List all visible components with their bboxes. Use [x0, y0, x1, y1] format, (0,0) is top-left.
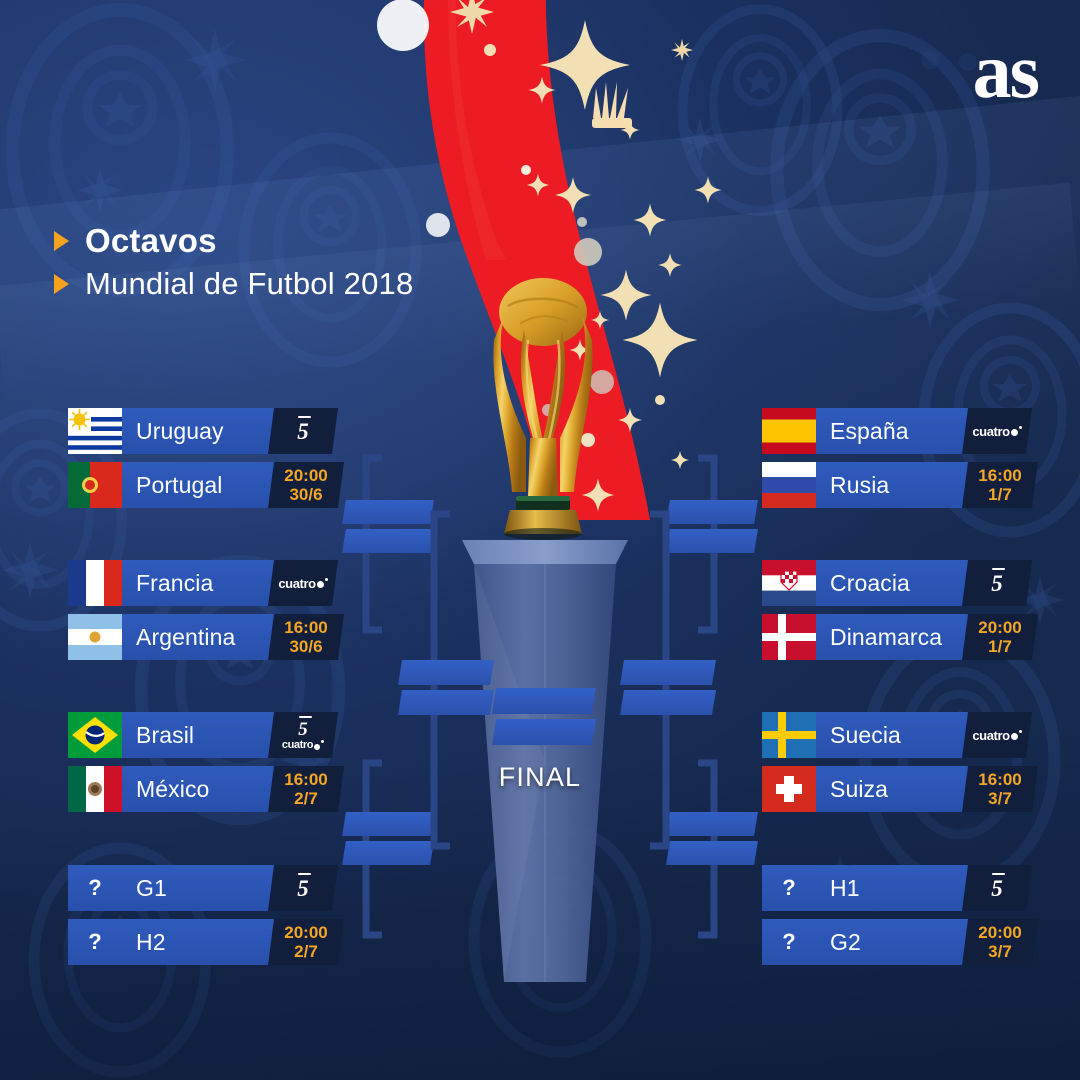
telecinco-cuatro-icon: 5 cuatro: [282, 720, 324, 751]
as-logo[interactable]: as: [973, 34, 1038, 108]
match-date: 1/7: [988, 485, 1012, 504]
match-time-box: 20:00 1/7: [962, 614, 1038, 660]
table-row[interactable]: ? H2 20:00 2/7: [68, 919, 330, 965]
team-name: H1: [816, 875, 860, 902]
channel-box: 5 cuatro: [268, 712, 338, 758]
match-time: 16:00: [978, 466, 1021, 485]
table-row[interactable]: Brasil 5 cuatro: [68, 712, 330, 758]
telecinco-icon: 5: [991, 877, 1003, 900]
table-row[interactable]: Francia cuatro: [68, 560, 330, 606]
team-name: Francia: [122, 570, 213, 597]
sweden-flag: [762, 712, 816, 758]
team-name: Uruguay: [122, 418, 224, 445]
match-time-box: 20:00 3/7: [962, 919, 1038, 965]
team-name: Suecia: [816, 722, 901, 749]
match-card[interactable]: Francia cuatro Arge: [68, 560, 330, 660]
match-date: 30/6: [289, 637, 322, 656]
unknown-team-icon: ?: [762, 919, 816, 965]
uruguay-flag: [68, 408, 122, 454]
match-date: 1/7: [988, 637, 1012, 656]
final-slot-b: [492, 719, 596, 745]
switzerland-flag: [762, 766, 816, 812]
unknown-team-icon: ?: [68, 865, 122, 911]
france-flag: [68, 560, 122, 606]
telecinco-icon: 5: [991, 572, 1003, 595]
page-title: Octavos Mundial de Futbol 2018: [54, 222, 413, 302]
telecinco-icon: 5: [297, 877, 309, 900]
team-name: H2: [122, 929, 166, 956]
match-time-box: 16:00 30/6: [268, 614, 344, 660]
table-row[interactable]: Uruguay 5: [68, 408, 330, 454]
channel-box: 5: [268, 408, 338, 454]
team-name: G1: [122, 875, 167, 902]
brazil-flag: [68, 712, 122, 758]
match-date: 3/7: [988, 789, 1012, 808]
match-date: 30/6: [289, 485, 322, 504]
match-time: 20:00: [978, 923, 1021, 942]
sf-slot-right-a: [620, 660, 716, 685]
match-date: 2/7: [294, 942, 318, 961]
match-time: 16:00: [284, 618, 327, 637]
team-name: Portugal: [122, 472, 222, 499]
match-card[interactable]: Brasil 5 cuatro: [68, 712, 330, 812]
title-line-2: Mundial de Futbol 2018: [85, 266, 413, 302]
table-row[interactable]: Suecia cuatro: [762, 712, 1024, 758]
match-time-box: 20:00 30/6: [268, 462, 344, 508]
team-name: Rusia: [816, 472, 889, 499]
team-name: G2: [816, 929, 861, 956]
denmark-flag: [762, 614, 816, 660]
match-card[interactable]: Uruguay 5 Portugal 20:00: [68, 408, 330, 508]
match-time: 16:00: [284, 770, 327, 789]
title-row-secondary: Mundial de Futbol 2018: [54, 266, 413, 302]
team-name: España: [816, 418, 909, 445]
table-row[interactable]: Rusia 16:00 1/7: [762, 462, 1024, 508]
table-row[interactable]: ? H1 5: [762, 865, 1024, 911]
sf-slot-left-a: [398, 660, 494, 685]
match-time: 20:00: [284, 466, 327, 485]
match-card[interactable]: Suecia cuatro Suiza 16:00: [762, 712, 1024, 812]
cuatro-icon: cuatro: [972, 425, 1021, 438]
match-card[interactable]: España cuatro Rusia 16:00: [762, 408, 1024, 508]
triangle-bullet-icon: [54, 231, 69, 251]
channel-box: cuatro: [962, 408, 1032, 454]
match-time-box: 16:00 3/7: [962, 766, 1038, 812]
team-name: Argentina: [122, 624, 235, 651]
table-row[interactable]: Dinamarca 20:00 1/7: [762, 614, 1024, 660]
cuatro-icon: cuatro: [278, 577, 327, 590]
match-card[interactable]: ? H1 5 ? G2 20:00 3/7: [762, 865, 1024, 965]
match-date: 2/7: [294, 789, 318, 808]
match-time: 20:00: [284, 923, 327, 942]
team-name: Brasil: [122, 722, 194, 749]
table-row[interactable]: Suiza 16:00 3/7: [762, 766, 1024, 812]
telecinco-icon: 5: [297, 420, 309, 443]
portugal-flag: [68, 462, 122, 508]
russia-flag: [762, 462, 816, 508]
match-time: 16:00: [978, 770, 1021, 789]
channel-box: 5: [962, 865, 1032, 911]
unknown-team-icon: ?: [68, 919, 122, 965]
title-line-1: Octavos: [85, 222, 217, 260]
triangle-bullet-icon: [54, 274, 69, 294]
final-slot-a: [492, 688, 596, 714]
table-row[interactable]: ? G1 5: [68, 865, 330, 911]
cuatro-icon: cuatro: [282, 740, 324, 751]
infographic-root: FINAL as Octavos Mundial de Futbol 2018: [0, 0, 1080, 1080]
match-date: 3/7: [988, 942, 1012, 961]
sf-slot-left-b: [398, 690, 494, 715]
channel-box: 5: [962, 560, 1032, 606]
spain-flag: [762, 408, 816, 454]
match-card[interactable]: Croacia 5 Dinamarca 20:00 1/7: [762, 560, 1024, 660]
title-row-primary: Octavos: [54, 222, 413, 260]
telecinco-icon: 5: [298, 720, 308, 739]
match-card[interactable]: ? G1 5 ? H2 20:00 2/7: [68, 865, 330, 965]
table-row[interactable]: Argentina 16:00 30/6: [68, 614, 330, 660]
sf-slot-right-b: [620, 690, 716, 715]
table-row[interactable]: México 16:00 2/7: [68, 766, 330, 812]
argentina-flag: [68, 614, 122, 660]
channel-box: 5: [268, 865, 338, 911]
channel-box: cuatro: [268, 560, 338, 606]
match-time-box: 16:00 1/7: [962, 462, 1038, 508]
match-time: 20:00: [978, 618, 1021, 637]
cuatro-icon: cuatro: [972, 729, 1021, 742]
match-time-box: 16:00 2/7: [268, 766, 344, 812]
channel-box: cuatro: [962, 712, 1032, 758]
unknown-team-icon: ?: [762, 865, 816, 911]
match-time-box: 20:00 2/7: [268, 919, 344, 965]
table-row[interactable]: Croacia 5: [762, 560, 1024, 606]
team-name: Suiza: [816, 776, 888, 803]
table-row[interactable]: España cuatro: [762, 408, 1024, 454]
team-name: México: [122, 776, 209, 803]
table-row[interactable]: Portugal 20:00 30/6: [68, 462, 330, 508]
croatia-flag: [762, 560, 816, 606]
table-row[interactable]: ? G2 20:00 3/7: [762, 919, 1024, 965]
mexico-flag: [68, 766, 122, 812]
team-name: Dinamarca: [816, 624, 942, 651]
team-name: Croacia: [816, 570, 910, 597]
